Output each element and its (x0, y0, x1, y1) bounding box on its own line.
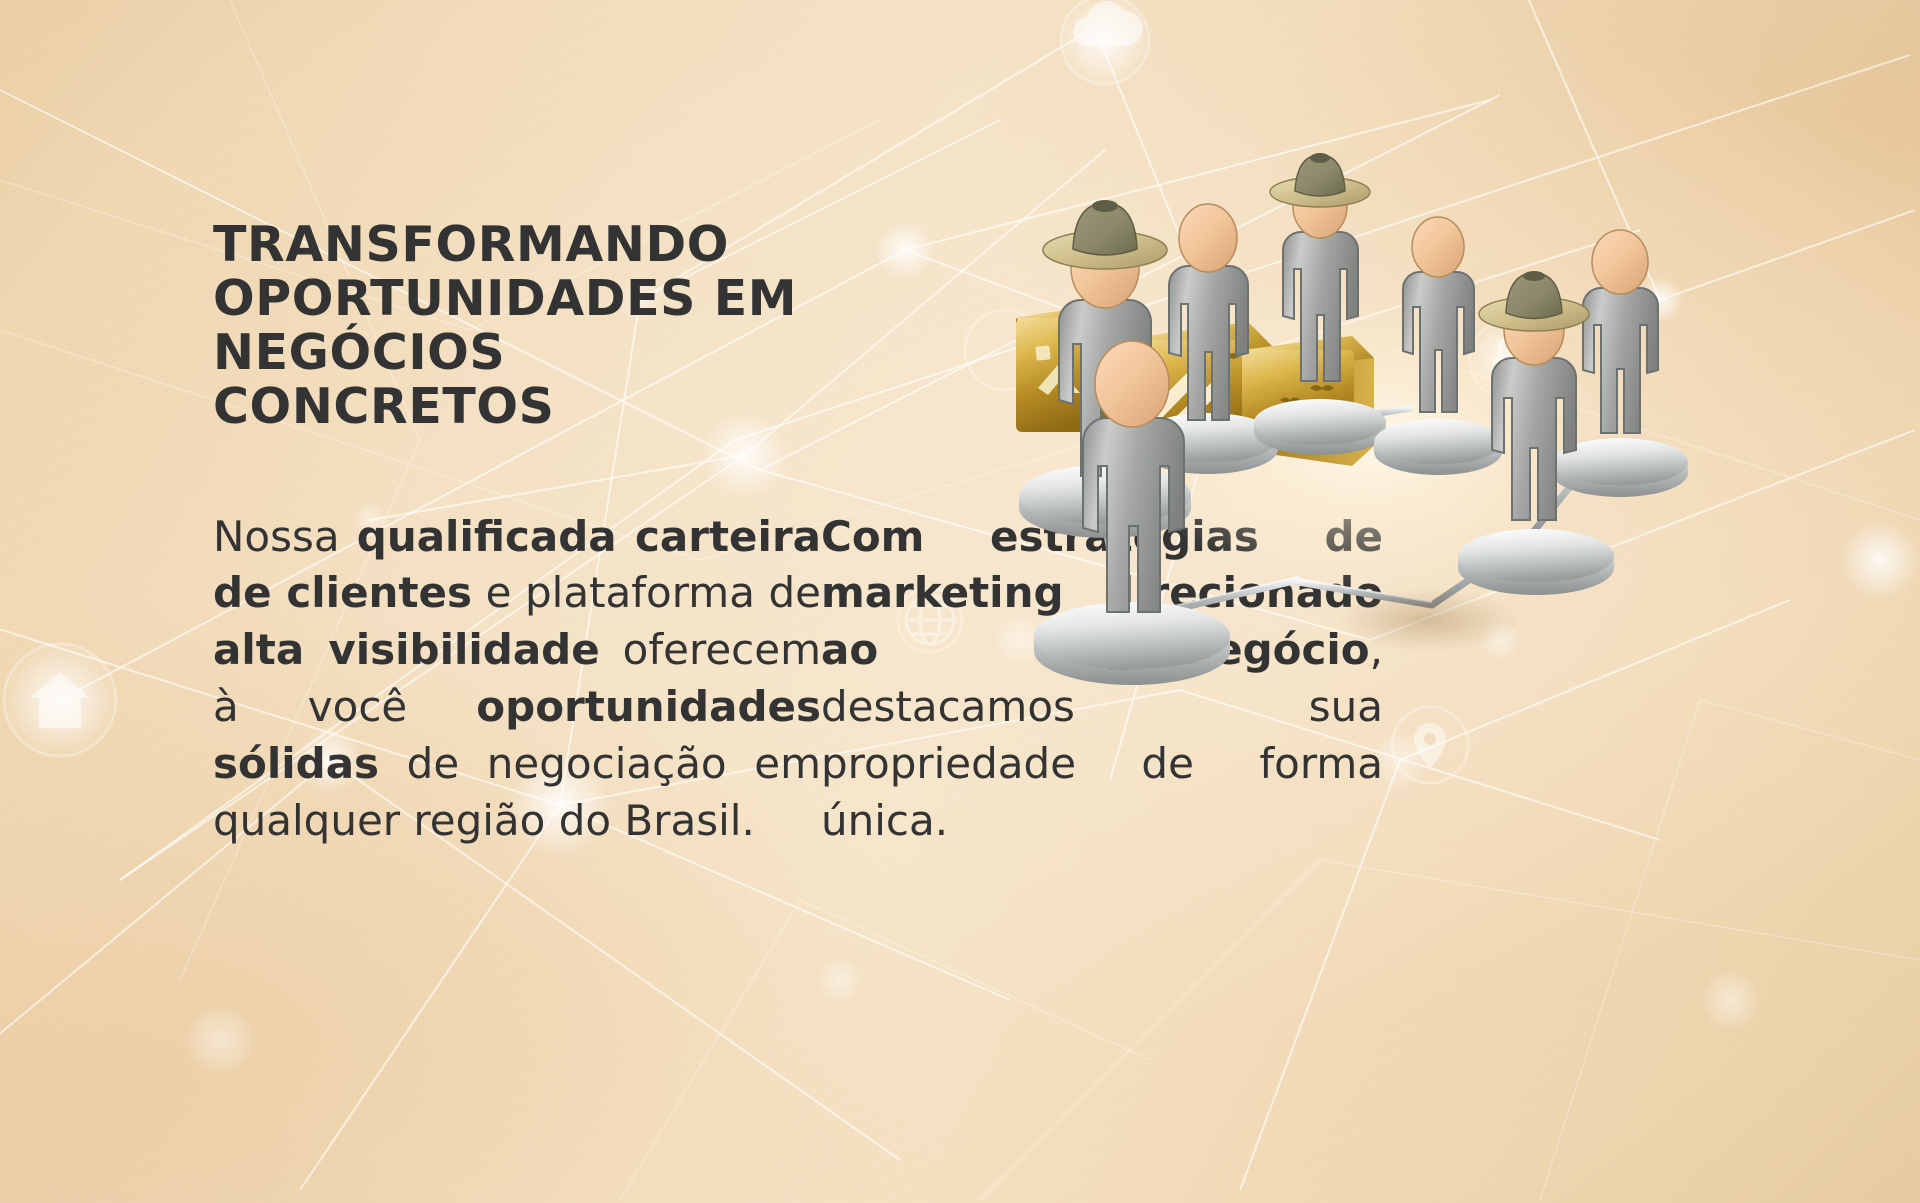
hat-icon (1043, 200, 1167, 269)
slide-canvas: TRANSFORMANDO OPORTUNIDADES EM NEGÓCIOS … (0, 0, 1920, 1203)
page-title: TRANSFORMANDO OPORTUNIDADES EM NEGÓCIOS … (213, 218, 813, 435)
body-text-3: e plataforma de (472, 568, 821, 617)
network-people-illustration (980, 150, 1820, 810)
hat-icon (1270, 153, 1370, 207)
hat-icon (1479, 271, 1589, 331)
body-text-1: Nossa (213, 512, 357, 561)
body-text-4-bold: alta visibilidade (213, 625, 600, 674)
body-paragraph-part-one: Nossa qualificada carteira de clientes e… (213, 509, 821, 850)
